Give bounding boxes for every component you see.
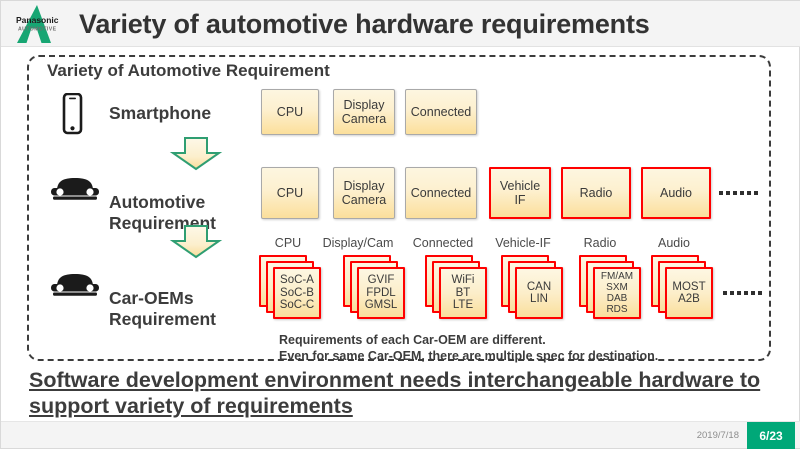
stack-card-items: MOST A2B <box>672 281 705 306</box>
col-header-audio: Audio <box>641 236 707 250</box>
car-icon-caroems <box>49 269 101 306</box>
row-label-smartphone: Smartphone <box>109 103 259 124</box>
logo-sub-text: AUTOMOTIVE <box>18 27 57 33</box>
box-automotive-display-camera: Display Camera <box>333 167 395 219</box>
box-automotive-connected: Connected <box>405 167 477 219</box>
row-label-caroems-text: Car-OEMs Requirement <box>109 288 216 329</box>
stack-card-front-audio: MOST A2B <box>665 267 713 319</box>
notes-line-1: Requirements of each Car-OEM are differe… <box>279 332 658 348</box>
slide-root: Panasonic AUTOMOTIVE Variety of automoti… <box>0 0 800 449</box>
stack-card-items: SoC-A SoC-B SoC-C <box>280 274 315 312</box>
stack-card-items: FM/AM SXM DAB RDS <box>601 271 633 315</box>
stack-vehicle-if: CAN LIN <box>501 255 571 329</box>
slide-footer: 2019/7/18 6/23 <box>1 421 800 448</box>
row-label-caroems-requirement: Car-OEMs Requirement <box>109 267 264 330</box>
stack-card-items: WiFi BT LTE <box>452 274 475 312</box>
col-header-connected: Connected <box>405 236 481 250</box>
box-label: Display Camera <box>342 98 386 126</box>
col-header-vehicle-if: Vehicle-IF <box>485 236 561 250</box>
stack-audio: MOST A2B <box>651 255 721 329</box>
car-icon-automotive <box>49 173 101 210</box>
slide-header: Panasonic AUTOMOTIVE Variety of automoti… <box>1 1 800 47</box>
col-header-cpu: CPU <box>257 236 319 250</box>
stack-card-front-radio: FM/AM SXM DAB RDS <box>593 267 641 319</box>
notes-line-2: Even for same Car-OEM, there are multipl… <box>279 348 658 364</box>
box-smartphone-connected: Connected <box>405 89 477 135</box>
box-label: Connected <box>411 186 471 200</box>
box-label: Display Camera <box>342 179 386 207</box>
box-automotive-cpu: CPU <box>261 167 319 219</box>
conclusion-statement: Software development environment needs i… <box>29 367 779 419</box>
page-title: Variety of automotive hardware requireme… <box>79 5 779 43</box>
ellipsis-automotive-row <box>719 191 758 195</box>
box-automotive-radio: Radio <box>561 167 631 219</box>
box-smartphone-cpu: CPU <box>261 89 319 135</box>
col-header-display-cam: Display/Cam <box>313 236 403 250</box>
ellipsis-caroems-row <box>723 291 762 295</box>
box-smartphone-display-camera: Display Camera <box>333 89 395 135</box>
footer-date: 2019/7/18 <box>697 430 739 441</box>
box-automotive-audio: Audio <box>641 167 711 219</box>
stack-card-items: CAN LIN <box>527 281 551 306</box>
down-arrow-automotive-to-caroems <box>169 225 223 264</box>
stack-card-front-display-cam: GVIF FPDL GMSL <box>357 267 405 319</box>
col-header-radio: Radio <box>567 236 633 250</box>
box-label: Radio <box>580 186 613 200</box>
stack-card-front-vehicle-if: CAN LIN <box>515 267 563 319</box>
box-label: Vehicle IF <box>500 179 540 207</box>
stack-cpu: SoC-A SoC-B SoC-C <box>259 255 329 329</box>
page-number-badge: 6/23 <box>747 422 795 449</box>
stack-card-front-connected: WiFi BT LTE <box>439 267 487 319</box>
stack-connected: WiFi BT LTE <box>425 255 495 329</box>
box-label: CPU <box>277 105 303 119</box>
stack-card-front-cpu: SoC-A SoC-B SoC-C <box>273 267 321 319</box>
box-label: Connected <box>411 105 471 119</box>
stack-card-items: GVIF FPDL GMSL <box>365 274 398 312</box>
stack-display-cam: GVIF FPDL GMSL <box>343 255 413 329</box>
box-label: Audio <box>660 186 692 200</box>
logo-brand-text: Panasonic <box>16 15 59 25</box>
notes-block: Requirements of each Car-OEM are differe… <box>279 332 658 364</box>
row-label-smartphone-text: Smartphone <box>109 103 211 123</box>
smartphone-icon <box>57 93 87 140</box>
content-box-title: Variety of Automotive Requirement <box>47 61 330 81</box>
box-automotive-vehicle-if: Vehicle IF <box>489 167 551 219</box>
box-label: CPU <box>277 186 303 200</box>
stack-radio: FM/AM SXM DAB RDS <box>579 255 649 329</box>
panasonic-automotive-logo: Panasonic AUTOMOTIVE <box>7 3 69 45</box>
